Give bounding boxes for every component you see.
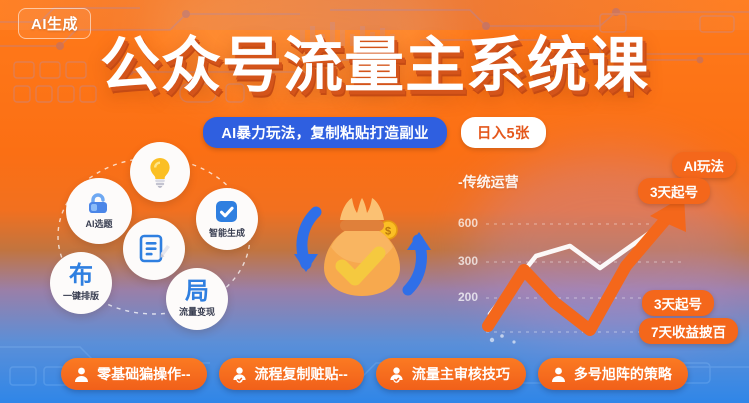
- chart-dots: [490, 334, 516, 343]
- top-band: [0, 0, 749, 30]
- check-square-icon: [214, 199, 240, 225]
- user-icon: [73, 366, 90, 383]
- node-glyph: 布: [69, 264, 93, 288]
- node-label: 流量变现: [179, 305, 215, 318]
- node-glyph: 局: [185, 280, 209, 304]
- annotation-3day-start: 3天起号: [638, 178, 710, 204]
- annotation-3day-start-2: 3天起号: [642, 290, 714, 316]
- bottom-item-3[interactable]: 流量主审核技巧: [376, 358, 526, 390]
- course-promo-banner: AI生成 公众号流量主系统课 AI暴力玩法，复制粘贴打造副业 日入5张: [0, 0, 749, 403]
- node-label: AI选题: [85, 217, 112, 230]
- ytick-600: 600: [458, 216, 478, 230]
- money-bag-check-icon: $: [282, 178, 442, 323]
- page-title: 公众号流量主系统课: [0, 36, 749, 96]
- node-smart-generate: 智能生成: [196, 188, 258, 250]
- ytick-300: 300: [458, 254, 478, 268]
- lightbulb-icon: [143, 155, 177, 189]
- node-label: 一键排版: [63, 289, 99, 302]
- node-label: 智能生成: [209, 226, 245, 239]
- node-lightbulb: [130, 142, 190, 202]
- bottom-item-label: 流程复制赃贴--: [255, 364, 348, 384]
- annotation-7day-income: 7天收益披百: [639, 318, 738, 344]
- ytick-200: 200: [458, 290, 478, 304]
- document-pen-icon: [137, 233, 171, 265]
- bottom-item-2[interactable]: 流程复制赃贴--: [219, 358, 364, 390]
- bottom-item-label: 流量主审核技巧: [412, 364, 510, 384]
- annotation-ai-method: AI玩法: [672, 152, 737, 178]
- series-ai: [488, 266, 626, 330]
- bottom-item-1[interactable]: 零基础猵操作--: [61, 358, 206, 390]
- coin-symbol: $: [385, 226, 391, 238]
- user-check-icon: [231, 366, 248, 383]
- series-traditional: [490, 224, 662, 314]
- chart-series-label: -传统运营: [458, 172, 519, 192]
- feature-cluster: AI选题 智能生成 布 一键排版 局 流量变现: [18, 140, 288, 330]
- node-traffic-monetize: 局 流量变现: [166, 268, 228, 330]
- node-document: [123, 218, 185, 280]
- bottom-item-label: 零基础猵操作--: [97, 364, 190, 384]
- bottom-item-label: 多号旭阵的策略: [574, 364, 672, 384]
- money-bag-illustration: $: [282, 178, 442, 323]
- user-check-icon: [388, 366, 405, 383]
- ai-generated-badge: AI生成: [18, 8, 91, 39]
- bottom-feature-bar: 零基础猵操作-- 流程复制赃贴-- 流量主审核技巧: [0, 345, 749, 403]
- node-one-click-layout: 布 一键排版: [50, 252, 112, 314]
- user-icon: [550, 366, 567, 383]
- growth-chart: -传统运营 600 300 200 AI玩法 3天起号 3天起号 7天收益披百: [440, 150, 740, 350]
- bottom-item-4[interactable]: 多号旭阵的策略: [538, 358, 688, 390]
- node-ai-topic: AI选题: [66, 178, 132, 244]
- highlight-pill: 日入5张: [461, 117, 546, 148]
- ai-lock-icon: [85, 192, 113, 216]
